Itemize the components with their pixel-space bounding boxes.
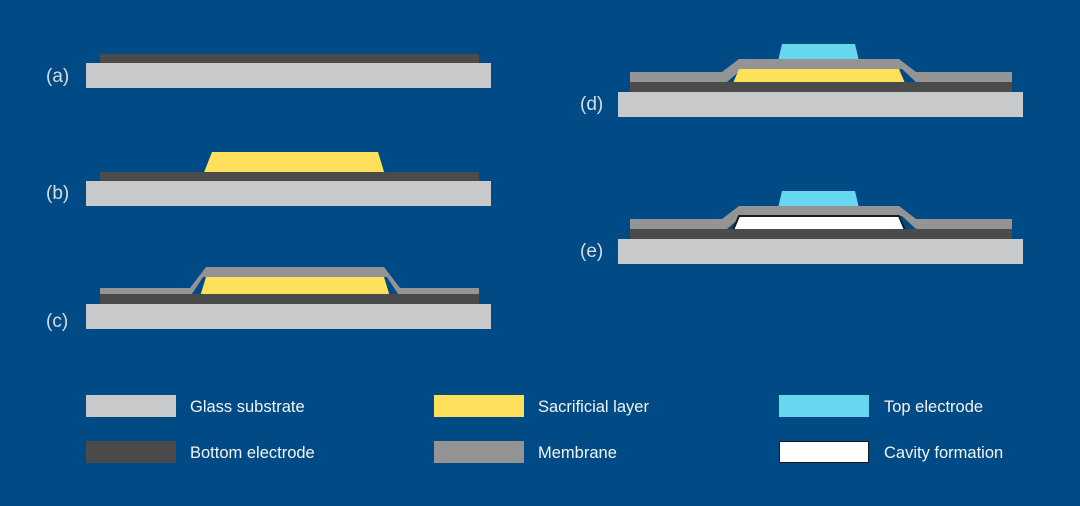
sacrificial-layer-swatch (434, 395, 524, 417)
process-flow-diagram: (a) (b) (c) (d) (0, 0, 1080, 506)
panel-d-bottom-electrode (630, 82, 1012, 93)
glass-substrate-swatch (86, 395, 176, 417)
cavity-formation-label: Cavity formation (884, 442, 1003, 464)
panel-a: (a) (46, 54, 491, 88)
panel-b-bottom-electrode (100, 172, 479, 182)
panel-a-bottom-electrode (100, 54, 479, 64)
panel-e-bottom-electrode (630, 229, 1012, 240)
panel-b: (b) (46, 152, 491, 206)
panel-b-sacrificial-layer (203, 152, 385, 175)
panel-b-label: (b) (46, 183, 69, 204)
panel-b-glass-substrate (86, 181, 491, 206)
panel-c-label: (c) (46, 311, 68, 332)
panel-a-glass-substrate (86, 63, 491, 88)
figure-canvas: (a) (b) (c) (d) (0, 0, 1080, 506)
sacrificial-layer-label: Sacrificial layer (538, 396, 649, 418)
panel-c-bottom-electrode (100, 294, 479, 305)
panel-d-glass-substrate (618, 92, 1023, 117)
panel-c: (c) (46, 267, 491, 332)
panel-c-glass-substrate (86, 304, 491, 329)
panel-e-top-electrode (778, 191, 859, 208)
panel-e-glass-substrate (618, 239, 1023, 264)
panel-d-label: (d) (580, 94, 603, 115)
membrane-label: Membrane (538, 442, 617, 464)
panel-e-label: (e) (580, 241, 603, 262)
cavity-formation-swatch (779, 441, 869, 463)
panel-d-top-electrode (778, 44, 859, 61)
bottom-electrode-swatch (86, 441, 176, 463)
membrane-swatch (434, 441, 524, 463)
top-electrode-label: Top electrode (884, 396, 983, 418)
panel-d: (d) (580, 44, 1023, 117)
panel-e: (e) (580, 191, 1023, 264)
bottom-electrode-label: Bottom electrode (190, 442, 315, 464)
top-electrode-swatch (779, 395, 869, 417)
glass-substrate-label: Glass substrate (190, 396, 305, 418)
panel-a-label: (a) (46, 66, 69, 87)
